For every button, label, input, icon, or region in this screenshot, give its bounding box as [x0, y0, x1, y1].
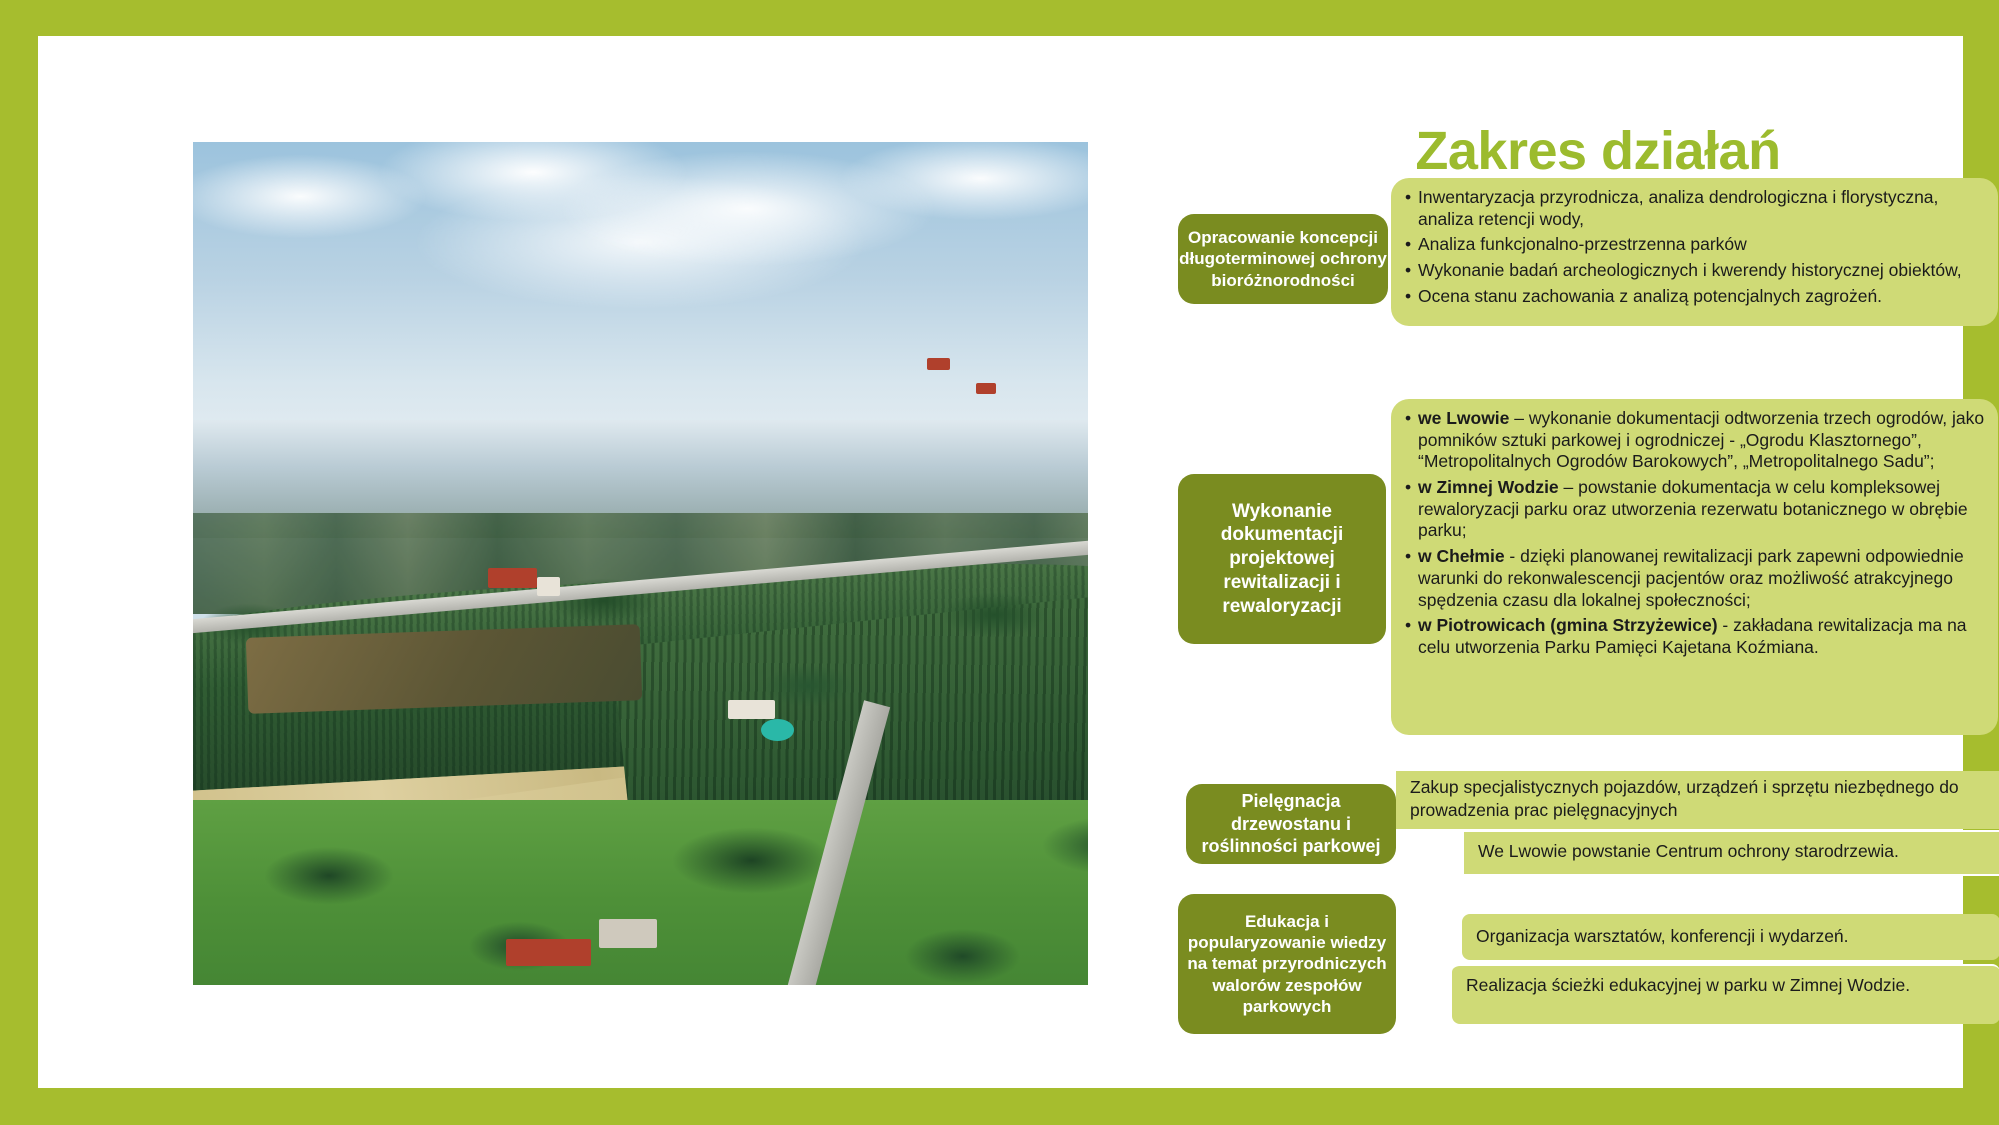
- photo-manor-roof: [488, 568, 536, 588]
- list-item: Analiza funkcjonalno-przestrzenna parków: [1405, 234, 1988, 256]
- label-box-3[interactable]: Pielęgnacja drzewostanu i roślinności pa…: [1186, 784, 1396, 864]
- content-box-4a-text: Organizacja warsztatów, konferencji i wy…: [1462, 914, 1999, 948]
- label-box-4[interactable]: Edukacja i popularyzowanie wiedzy na tem…: [1178, 894, 1396, 1034]
- photo-park-meadow: [193, 800, 1088, 985]
- label-box-2[interactable]: Wykonanie dokumentacji projektowej rewit…: [1178, 474, 1386, 644]
- photo-sky: [193, 142, 1088, 445]
- content-box-4b-text: Realizacja ścieżki edukacyjnej w parku w…: [1452, 966, 1999, 997]
- photo-barn-roof: [506, 939, 591, 966]
- label-box-1[interactable]: Opracowanie koncepcji długoterminowej oc…: [1178, 214, 1388, 304]
- photo-house-roof-1: [927, 358, 950, 370]
- content-box-3a-text: Zakup specjalistycznych pojazdów, urządz…: [1396, 771, 1999, 822]
- bullet-list-2: we Lwowie – wykonanie dokumentacji odtwo…: [1405, 408, 1988, 659]
- content-box-4b: Realizacja ścieżki edukacyjnej w parku w…: [1452, 964, 1999, 1024]
- label-box-4-text: Edukacja i popularyzowanie wiedzy na tem…: [1178, 911, 1396, 1017]
- list-item-lead: w Zimnej Wodzie: [1418, 477, 1559, 497]
- photo-villa: [728, 700, 775, 719]
- list-item: w Zimnej Wodzie – powstanie dokumentacja…: [1405, 477, 1988, 542]
- list-item: Ocena stanu zachowania z analizą potencj…: [1405, 286, 1988, 308]
- label-box-1-text: Opracowanie koncepcji długoterminowej oc…: [1178, 227, 1388, 291]
- photo-shed-roof: [599, 919, 656, 948]
- list-item: we Lwowie – wykonanie dokumentacji odtwo…: [1405, 408, 1988, 473]
- aerial-photo: [193, 142, 1088, 985]
- photo-swimming-pool: [761, 719, 793, 741]
- label-box-3-text: Pielęgnacja drzewostanu i roślinności pa…: [1186, 790, 1396, 858]
- content-box-3a: Zakup specjalistycznych pojazdów, urządz…: [1396, 771, 1999, 829]
- list-item: Inwentaryzacja przyrodnicza, analiza den…: [1405, 187, 1988, 230]
- list-item: Wykonanie badań archeologicznych i kwere…: [1405, 260, 1988, 282]
- content-box-3b-text: We Lwowie powstanie Centrum ochrony star…: [1464, 832, 1999, 863]
- list-item-lead: w Piotrowicach (gmina Strzyżewice): [1418, 615, 1718, 635]
- photo-pond: [245, 624, 641, 714]
- photo-manor-wall: [537, 577, 560, 596]
- list-item: w Chełmie - dzięki planowanej rewitaliza…: [1405, 546, 1988, 611]
- content-box-2: we Lwowie – wykonanie dokumentacji odtwo…: [1391, 399, 1998, 735]
- slide-canvas: Zakres działań Inwentaryzacja przyrodnic…: [38, 36, 1963, 1088]
- list-item-lead: w Chełmie: [1418, 546, 1505, 566]
- list-item: w Piotrowicach (gmina Strzyżewice) - zak…: [1405, 615, 1988, 658]
- bullet-list-1: Inwentaryzacja przyrodnicza, analiza den…: [1405, 187, 1988, 307]
- page-title: Zakres działań: [1218, 124, 1978, 178]
- content-box-4a: Organizacja warsztatów, konferencji i wy…: [1462, 914, 1999, 960]
- content-box-1: Inwentaryzacja przyrodnicza, analiza den…: [1391, 178, 1998, 326]
- content-box-3b: We Lwowie powstanie Centrum ochrony star…: [1462, 830, 1999, 876]
- photo-house-roof-2: [976, 383, 996, 394]
- label-box-2-text: Wykonanie dokumentacji projektowej rewit…: [1178, 500, 1386, 619]
- list-item-lead: we Lwowie: [1418, 408, 1509, 428]
